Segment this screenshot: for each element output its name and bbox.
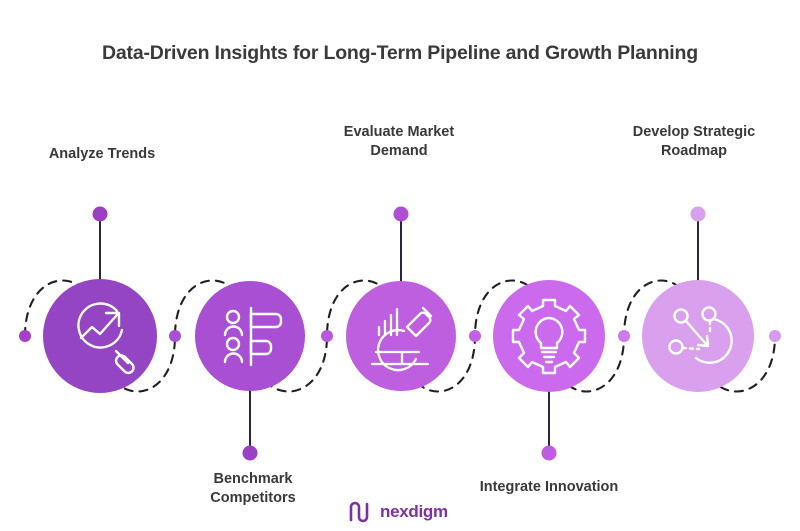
path-dot-2 (321, 330, 333, 342)
step-label-line-1: Benchmark (163, 470, 343, 489)
step-node-2[interactable] (195, 281, 305, 391)
pin-head-dot-2 (243, 446, 258, 461)
step-label-line: Integrate Innovation (459, 478, 639, 497)
path-dot-4 (618, 330, 630, 342)
step-circle-3 (346, 281, 456, 391)
pin-head-dot-1 (93, 207, 108, 222)
step-label-line: Analyze Trends (12, 145, 192, 164)
step-label-integrate-innovation: Integrate Innovation (459, 478, 639, 497)
step-circle-4 (493, 280, 605, 392)
step-label-benchmark-competitors: Benchmark Competitors (163, 470, 343, 508)
pin-head-dot-5 (691, 207, 706, 222)
path-dot-3 (469, 330, 481, 342)
nexdigm-wave-logo-icon (348, 500, 374, 524)
step-label-evaluate-market-demand: Evaluate Market Demand (309, 123, 489, 161)
brand-name: nexdigm (380, 502, 448, 522)
step-label-line-1: Develop Strategic (604, 123, 784, 142)
pin-head-dot-4 (542, 446, 557, 461)
pin-head-dot-3 (394, 207, 409, 222)
step-label-develop-strategic-roadmap: Develop Strategic Roadmap (604, 123, 784, 161)
step-label-analyze-trends: Analyze Trends (12, 145, 192, 164)
step-circle-1 (43, 279, 157, 393)
path-dot-1 (169, 330, 181, 342)
step-node-3[interactable] (346, 281, 456, 391)
step-label-line-2: Competitors (163, 489, 343, 508)
step-label-line-1: Evaluate Market (309, 123, 489, 142)
path-dot-end (769, 330, 781, 342)
step-label-line-2: Demand (309, 142, 489, 161)
infographic-canvas: Data-Driven Insights for Long-Term Pipel… (0, 0, 800, 531)
step-label-line-2: Roadmap (604, 142, 784, 161)
step-node-1[interactable] (43, 279, 157, 393)
process-flow-graphic (0, 0, 800, 531)
step-node-5[interactable] (642, 280, 754, 392)
path-dot-start (19, 330, 31, 342)
brand-logo: nexdigm (348, 500, 448, 524)
step-node-4[interactable] (493, 280, 605, 392)
